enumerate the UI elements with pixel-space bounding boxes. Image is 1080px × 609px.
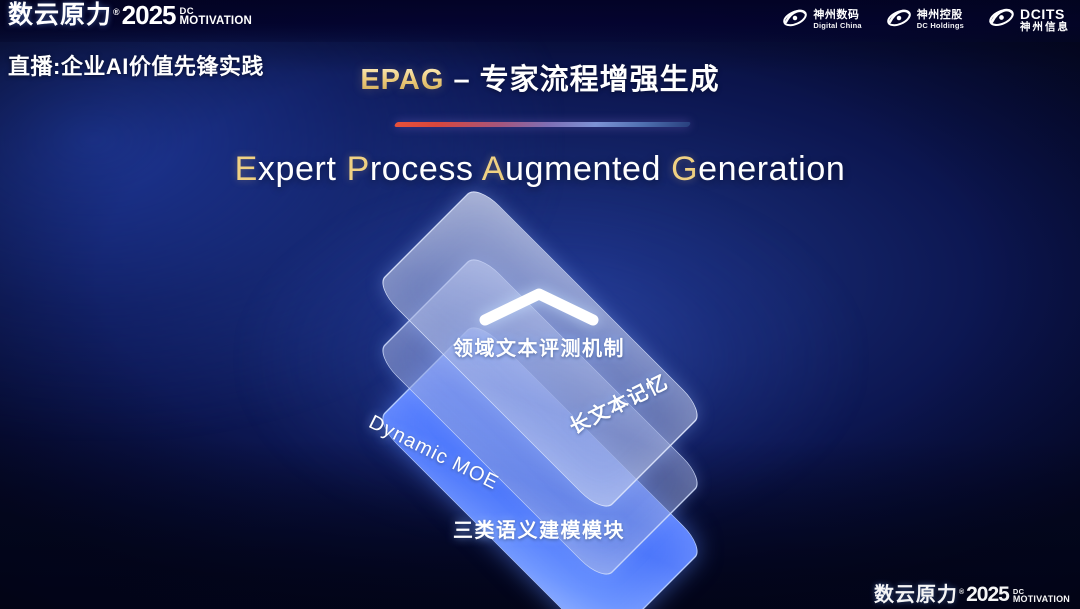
subtitle-word-generation: Generation <box>671 150 845 188</box>
chevron-up-icon <box>475 284 603 328</box>
brand-motivation-word: MOTIVATION <box>1013 595 1070 604</box>
partner-label: 神州数码 Digital China <box>813 10 861 29</box>
swirl-icon <box>988 6 1015 34</box>
title-dash: – <box>444 64 479 96</box>
partner-logo-dcits: DCITS 神州信息 <box>988 6 1070 34</box>
partner-label: 神州控股 DC Holdings <box>917 10 964 29</box>
subtitle-initial: A <box>482 150 505 188</box>
partner-logo-digital-china: 神州数码 Digital China <box>782 7 861 34</box>
page-subtitle: Expert Process Augmented Generation <box>0 150 1080 189</box>
registered-mark-icon: ® <box>959 589 964 596</box>
brand-logo-top-left: 数云原力 ® 2025 DC MOTIVATION <box>8 2 252 28</box>
brand-name-cn: 数云原力 <box>874 585 958 605</box>
partner-name-en: DCITS <box>1020 7 1070 22</box>
slide-canvas: 数云原力 ® 2025 DC MOTIVATION 直播:企业AI价值先锋实践 … <box>0 0 1080 609</box>
subtitle-word-expert: Expert <box>235 150 337 188</box>
swirl-icon <box>782 7 808 34</box>
title-divider <box>394 122 692 127</box>
subtitle-word-rest: ugmented <box>505 150 661 188</box>
layered-architecture-diagram: 领域文本评测机制 Dynamic MOE 长文本记忆 三类语义建模模块 <box>313 232 765 572</box>
brand-dc-motivation: DC MOTIVATION <box>180 7 252 28</box>
brand-name-cn: 数云原力 <box>8 3 112 28</box>
partner-label: DCITS 神州信息 <box>1020 7 1070 33</box>
page-title: EPAG – 专家流程增强生成 <box>0 56 1080 98</box>
brand-motivation-word: MOTIVATION <box>180 16 252 27</box>
diagram-label-top: 领域文本评测机制 <box>313 332 765 361</box>
subtitle-word-rest: rocess <box>370 150 474 188</box>
brand-logo-bottom-right: 数云原力 ® 2025 DC MOTIVATION <box>874 584 1070 605</box>
title-chinese: 专家流程增强生成 <box>480 64 720 96</box>
partner-name-cn: 神州信息 <box>1020 22 1070 33</box>
partner-logo-group: 神州数码 Digital China 神州控股 DC Holdings <box>782 6 1070 34</box>
brand-dc-motivation: DC MOTIVATION <box>1013 588 1070 605</box>
partner-name-en: DC Holdings <box>917 22 964 30</box>
subtitle-word-augmented: Augmented <box>482 150 661 188</box>
brand-year: 2025 <box>122 2 176 28</box>
registered-mark-icon: ® <box>113 7 120 17</box>
title-acronym: EPAG <box>360 64 444 96</box>
subtitle-initial: P <box>347 150 370 188</box>
subtitle-word-process: Process <box>347 150 474 188</box>
subtitle-initial: E <box>235 150 258 188</box>
subtitle-initial: G <box>671 150 698 188</box>
subtitle-word-rest: xpert <box>258 150 337 188</box>
swirl-icon <box>886 7 912 34</box>
subtitle-word-rest: eneration <box>698 150 845 188</box>
brand-year: 2025 <box>966 584 1009 605</box>
partner-logo-dc-holdings: 神州控股 DC Holdings <box>886 7 964 34</box>
partner-name-en: Digital China <box>813 22 861 30</box>
diagram-label-bottom: 三类语义建模模块 <box>313 514 765 543</box>
